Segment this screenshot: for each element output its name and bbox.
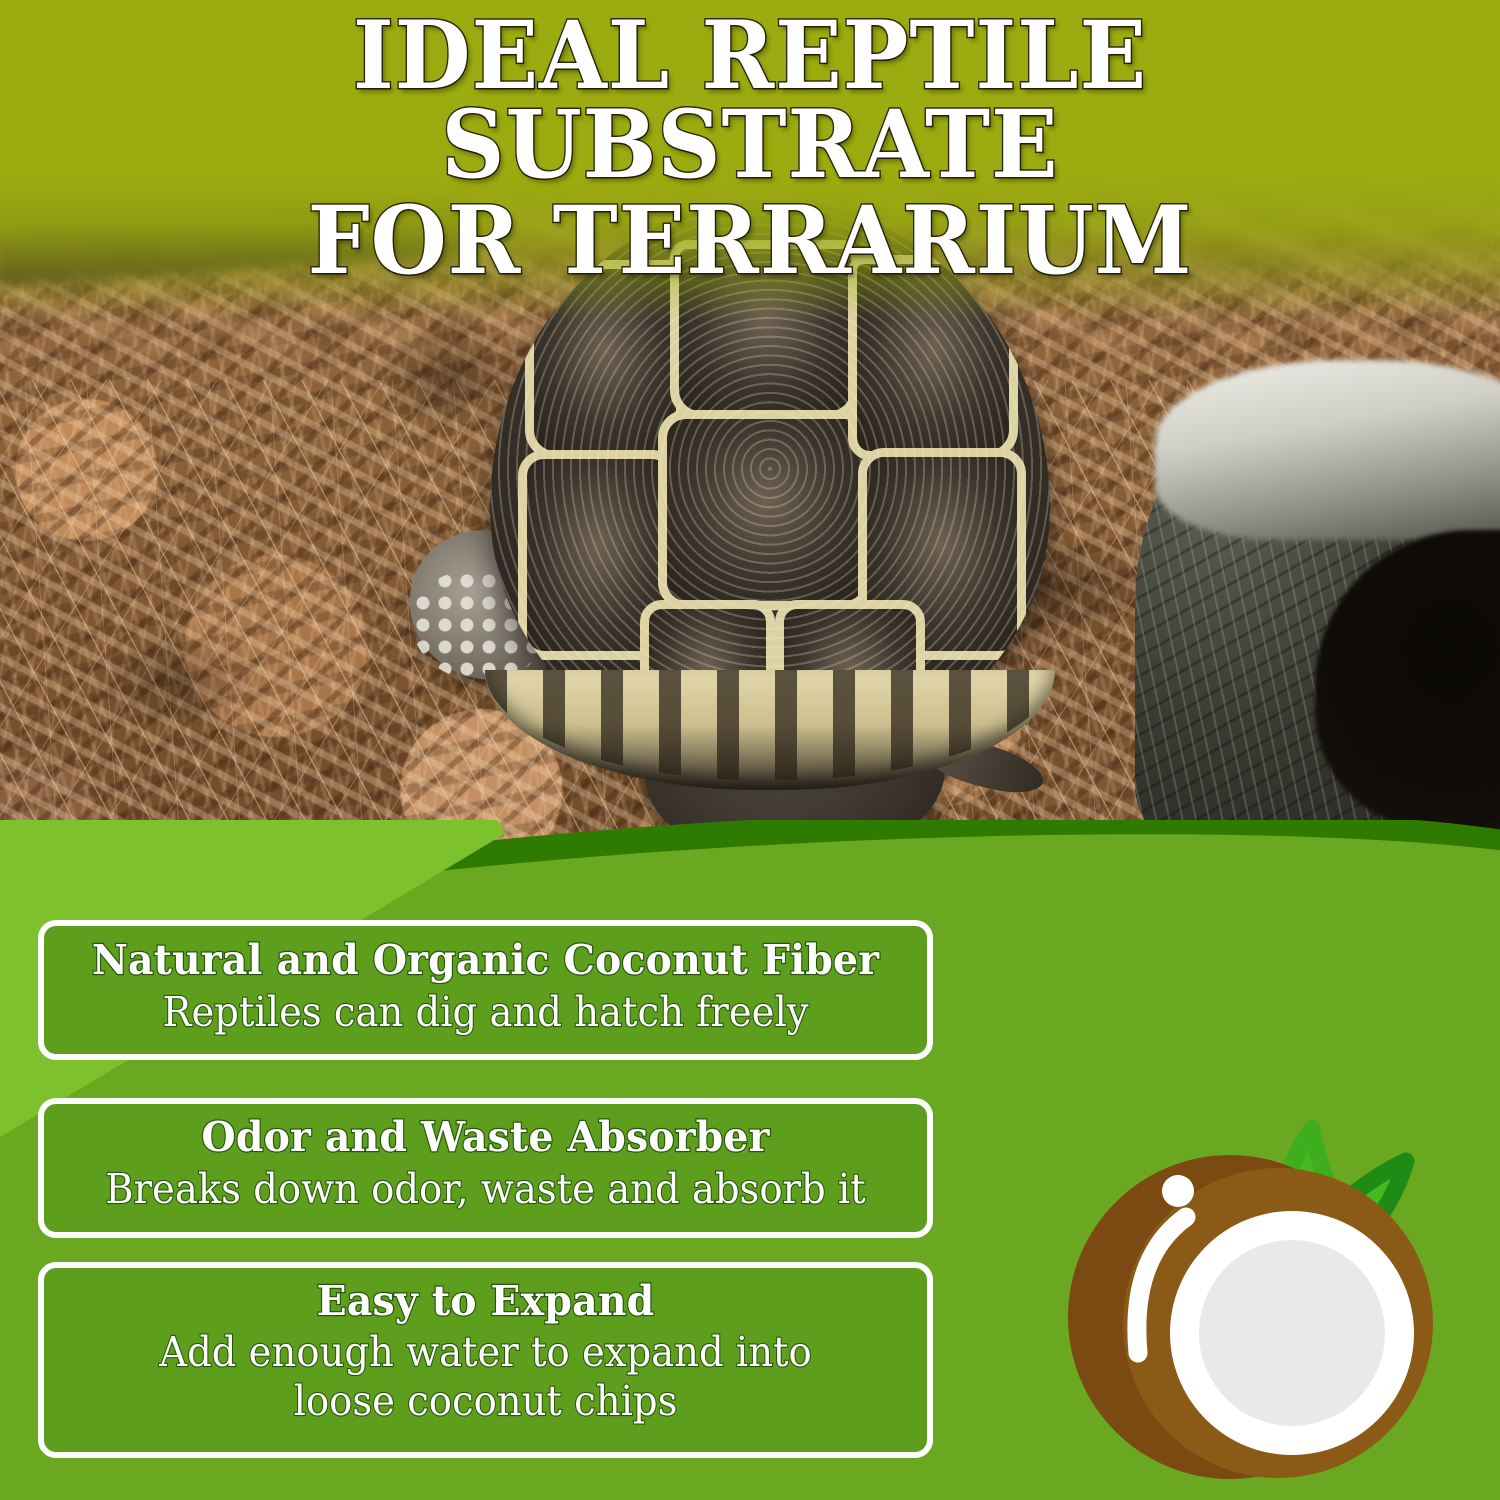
title-line-1: IDEAL REPTILE SUBSTRATE: [53, 12, 1448, 191]
feature-3-title: Easy to Expand: [62, 1279, 910, 1325]
feature-1-line-1: Reptiles can dig and hatch freely: [70, 990, 900, 1034]
page-title: IDEAL REPTILE SUBSTRATE FOR TERRARIUM: [0, 0, 1500, 220]
coconut-highlight-dot: [1162, 1175, 1194, 1207]
feature-box-2: Odor and Waste Absorber Breaks down odor…: [38, 1098, 933, 1238]
title-line-2: FOR TERRARIUM: [53, 197, 1448, 286]
product-infographic-poster: IDEAL REPTILE SUBSTRATE FOR TERRARIUM Na…: [0, 0, 1500, 1500]
coconut-inner: [1199, 1240, 1385, 1426]
feature-2-line-1: Breaks down odor, waste and absorb it: [70, 1167, 900, 1211]
feature-2-title: Odor and Waste Absorber: [62, 1115, 910, 1161]
feature-1-title: Natural and Organic Coconut Fiber: [62, 938, 910, 984]
coconut-icon: [1040, 1105, 1490, 1485]
feature-3-line-2: loose coconut chips: [70, 1379, 900, 1423]
feature-3-line-1: Add enough water to expand into: [70, 1330, 900, 1374]
feature-box-1: Natural and Organic Coconut Fiber Reptil…: [38, 920, 933, 1060]
rock-hide-highlight: [1155, 360, 1500, 540]
feature-box-3: Easy to Expand Add enough water to expan…: [38, 1262, 933, 1458]
rock-hide-cave: [1135, 330, 1500, 850]
